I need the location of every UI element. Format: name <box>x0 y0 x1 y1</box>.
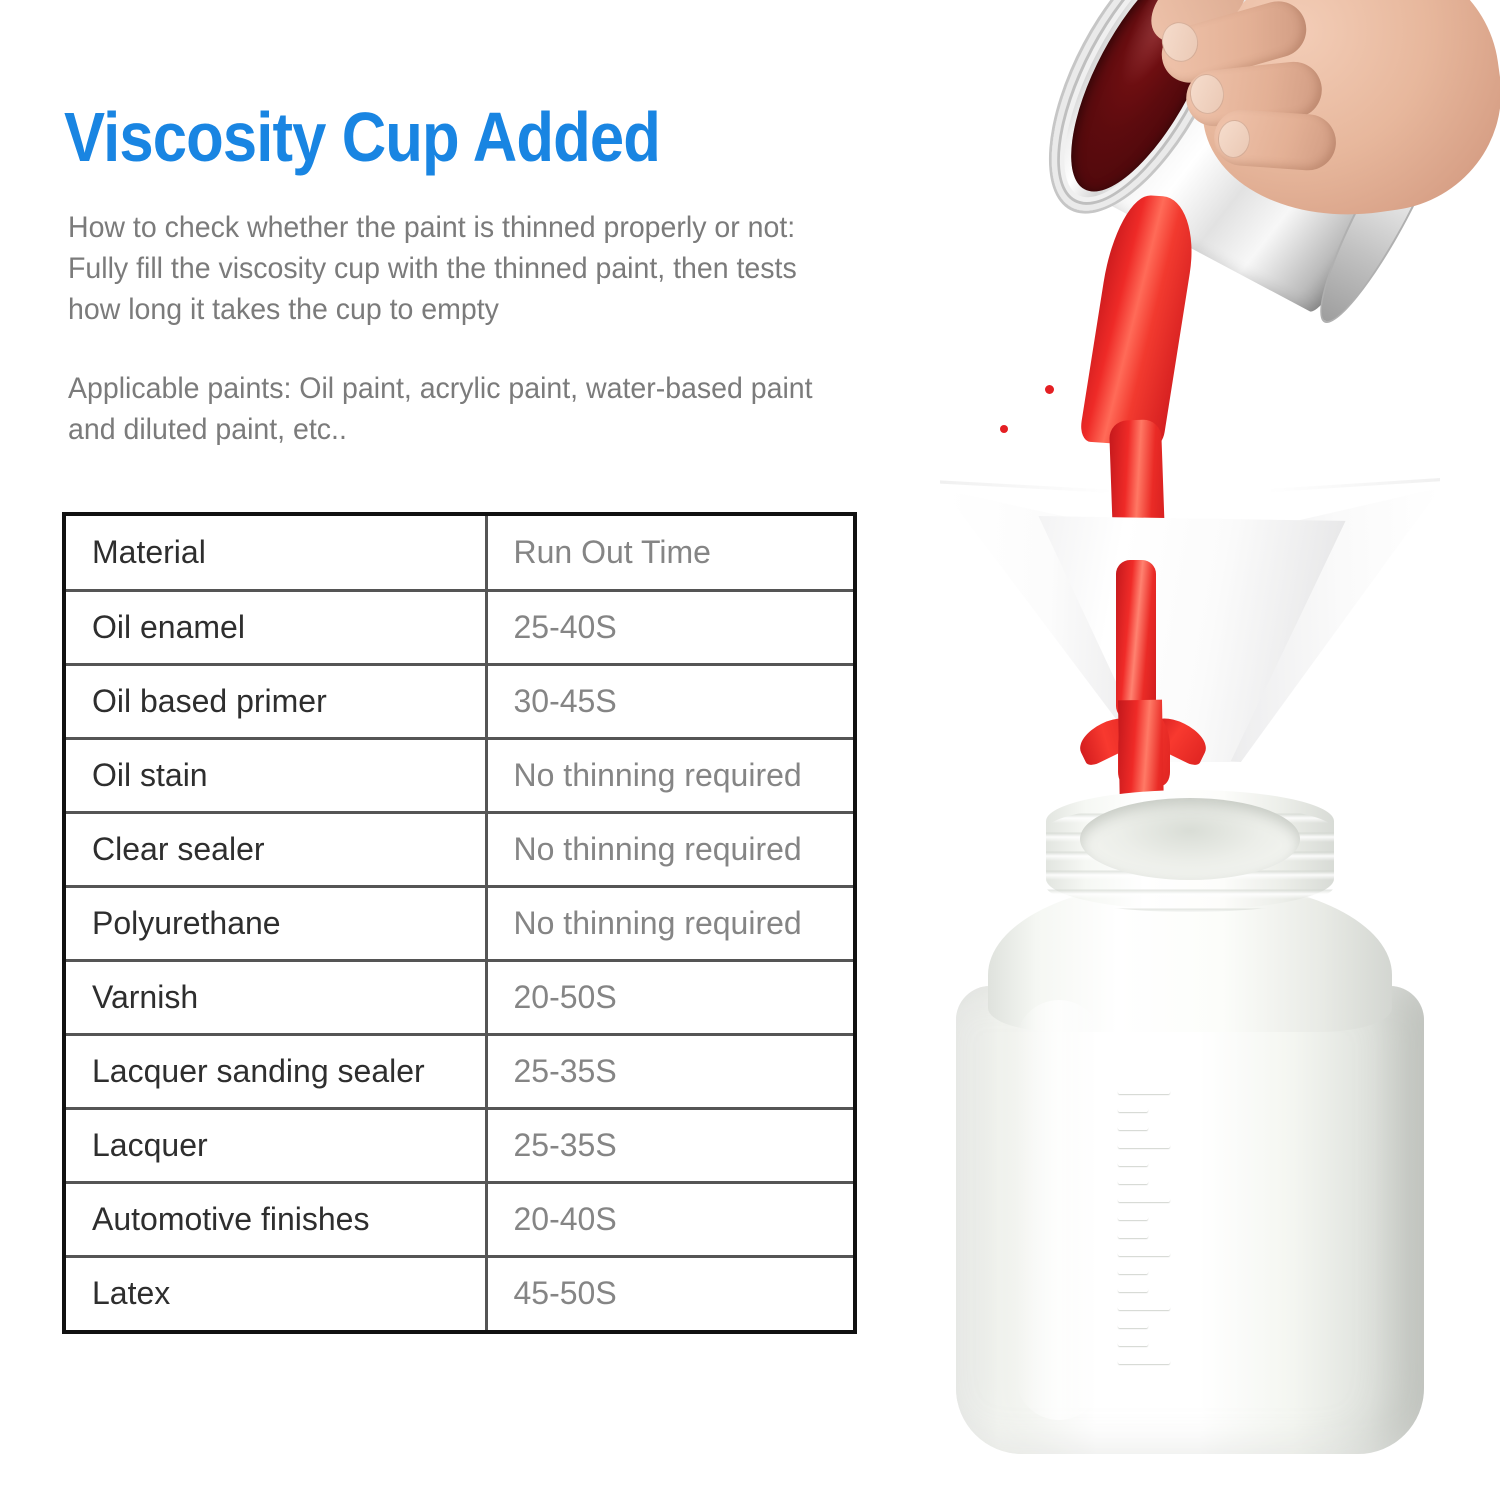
paint-droplet <box>1045 385 1054 394</box>
table-row: Lacquer sanding sealer 25-35S <box>66 1034 853 1108</box>
table: Material Run Out Time Oil enamel 25-40S … <box>66 516 853 1330</box>
paint-stream-in-funnel <box>1116 560 1156 720</box>
table-cell-material: Clear sealer <box>66 812 486 886</box>
table-row: Latex 45-50S <box>66 1256 853 1330</box>
paint-droplet <box>1000 425 1008 433</box>
table-cell-time: No thinning required <box>486 812 853 886</box>
product-infographic-page: Viscosity Cup Added How to check whether… <box>0 0 1500 1500</box>
table-cell-time: 25-35S <box>486 1034 853 1108</box>
table-row: Oil enamel 25-40S <box>66 590 853 664</box>
table-cell-material: Lacquer <box>66 1108 486 1182</box>
table-cell-time: 25-35S <box>486 1108 853 1182</box>
table-cell-material: Oil enamel <box>66 590 486 664</box>
page-title: Viscosity Cup Added <box>64 95 660 179</box>
table-cell-material: Material <box>66 516 486 590</box>
table-row: Clear sealer No thinning required <box>66 812 853 886</box>
table-cell-material: Varnish <box>66 960 486 1034</box>
hand-holding-can <box>1152 0 1500 290</box>
plastic-measuring-jar <box>928 790 1448 1480</box>
intro-paragraph: How to check whether the paint is thinne… <box>68 207 797 330</box>
table-cell-material: Oil based primer <box>66 664 486 738</box>
table-cell-time: 30-45S <box>486 664 853 738</box>
table-row: Lacquer 25-35S <box>66 1108 853 1182</box>
table-cell-material: Automotive finishes <box>66 1182 486 1256</box>
product-photo-composition <box>880 0 1500 1500</box>
jar-mouth-opening <box>1080 798 1300 880</box>
table-row: Polyurethane No thinning required <box>66 886 853 960</box>
table-body: Material Run Out Time Oil enamel 25-40S … <box>66 516 853 1330</box>
table-cell-time: No thinning required <box>486 886 853 960</box>
table-cell-material: Lacquer sanding sealer <box>66 1034 486 1108</box>
table-cell-time: 20-40S <box>486 1182 853 1256</box>
table-row: Material Run Out Time <box>66 516 853 590</box>
table-cell-time: Run Out Time <box>486 516 853 590</box>
table-row: Varnish 20-50S <box>66 960 853 1034</box>
table-cell-material: Oil stain <box>66 738 486 812</box>
jar-graduation-marks <box>1118 1090 1228 1380</box>
table-cell-time: 20-50S <box>486 960 853 1034</box>
table-row: Oil based primer 30-45S <box>66 664 853 738</box>
table-cell-time: No thinning required <box>486 738 853 812</box>
table-row: Oil stain No thinning required <box>66 738 853 812</box>
table-cell-time: 45-50S <box>486 1256 853 1330</box>
applicable-paints-paragraph: Applicable paints: Oil paint, acrylic pa… <box>68 368 813 450</box>
table-cell-time: 25-40S <box>486 590 853 664</box>
run-out-time-table: Material Run Out Time Oil enamel 25-40S … <box>62 512 857 1334</box>
table-cell-material: Latex <box>66 1256 486 1330</box>
jar-highlight <box>1016 1000 1102 1420</box>
table-cell-material: Polyurethane <box>66 886 486 960</box>
table-row: Automotive finishes 20-40S <box>66 1182 853 1256</box>
